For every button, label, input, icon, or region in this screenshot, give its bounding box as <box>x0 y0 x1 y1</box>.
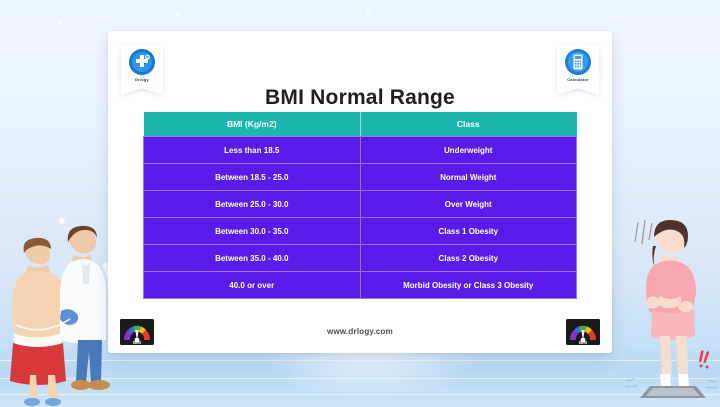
table-header: BMI (Kg/m2) Class <box>144 112 577 137</box>
table-header-row: BMI (Kg/m2) Class <box>144 112 577 137</box>
cell-bmi-range: Between 18.5 - 25.0 <box>144 164 361 191</box>
cell-bmi-range: Between 35.0 - 40.0 <box>144 245 361 272</box>
calculator-badge: Calculator <box>557 45 599 88</box>
bmi-gauge-icon: BMI <box>566 319 600 345</box>
background-dot <box>176 14 179 17</box>
table-row: Between 25.0 - 30.0 Over Weight <box>144 191 577 218</box>
woman-figure <box>645 220 696 393</box>
svg-text:BMI: BMI <box>133 340 141 345</box>
svg-text:BMI: BMI <box>579 340 587 345</box>
drlogy-brand-badge: Drlogy <box>121 45 163 88</box>
cell-class: Class 2 Obesity <box>360 245 577 272</box>
table-row: Between 30.0 - 35.0 Class 1 Obesity <box>144 218 577 245</box>
cell-class: Normal Weight <box>360 164 577 191</box>
background-dot <box>58 20 63 25</box>
table-row: Between 35.0 - 40.0 Class 2 Obesity <box>144 245 577 272</box>
drlogy-badge-label: Drlogy <box>123 77 161 82</box>
ribbon-body: Drlogy <box>121 45 163 88</box>
footer-website-url[interactable]: www.drlogy.com <box>108 327 612 336</box>
page-title: BMI Normal Range <box>108 86 612 110</box>
cell-bmi-range: 40.0 or over <box>144 272 361 299</box>
calculator-icon <box>565 49 591 75</box>
cell-class: Morbid Obesity or Class 3 Obesity <box>360 272 577 299</box>
weighing-scale <box>640 386 706 398</box>
cell-bmi-range: Less than 18.5 <box>144 137 361 164</box>
bmi-chart-card: Drlogy <box>108 31 612 353</box>
illustration-doctor-measuring-man <box>2 215 110 407</box>
screenshot-root: Drlogy <box>0 0 720 407</box>
table-body: Less than 18.5 Underweight Between 18.5 … <box>144 137 577 299</box>
illustration-woman-on-scale <box>620 210 720 407</box>
bmi-range-table: BMI (Kg/m2) Class Less than 18.5 Underwe… <box>143 112 577 299</box>
table-row: Between 18.5 - 25.0 Normal Weight <box>144 164 577 191</box>
column-header-class: Class <box>360 112 577 137</box>
doctor-figure <box>60 226 110 390</box>
ribbon-body: Calculator <box>557 45 599 88</box>
table-row: Less than 18.5 Underweight <box>144 137 577 164</box>
table-row: 40.0 or over Morbid Obesity or Class 3 O… <box>144 272 577 299</box>
calculator-badge-label: Calculator <box>559 77 597 82</box>
cell-bmi-range: Between 30.0 - 35.0 <box>144 218 361 245</box>
exclamation-marks <box>699 350 710 369</box>
cell-class: Over Weight <box>360 191 577 218</box>
cell-class: Class 1 Obesity <box>360 218 577 245</box>
motion-lines <box>635 220 652 244</box>
cell-bmi-range: Between 25.0 - 30.0 <box>144 191 361 218</box>
column-header-bmi: BMI (Kg/m2) <box>144 112 361 137</box>
cell-class: Underweight <box>360 137 577 164</box>
background-dot <box>366 10 370 14</box>
drlogy-medical-cross-icon <box>129 49 155 75</box>
